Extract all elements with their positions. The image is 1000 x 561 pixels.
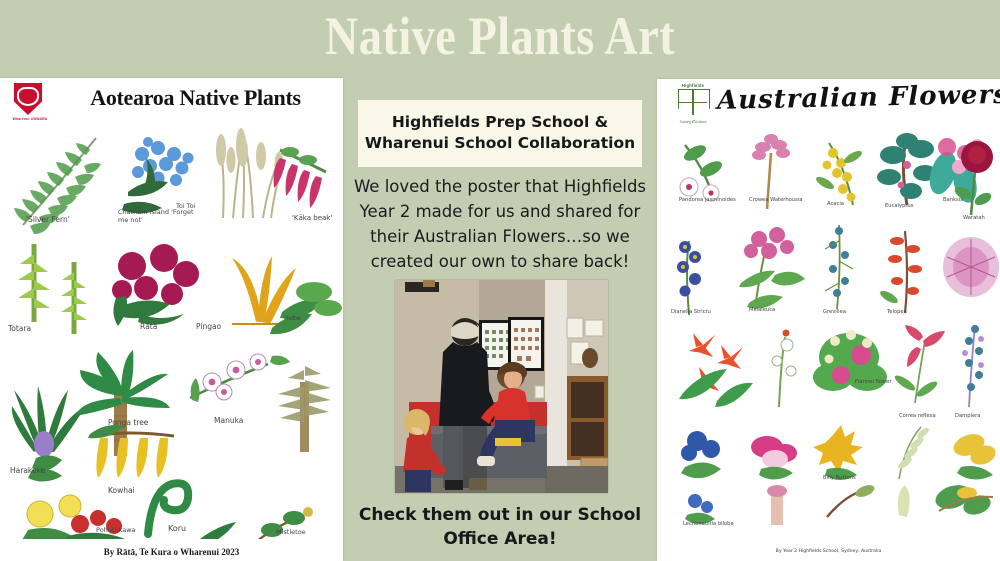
center-column: Highfields Prep School & Wharenui School… (343, 78, 657, 561)
wharenui-crest-caption: Wharenui ONWARD (12, 117, 48, 121)
office-area-cta: Check them out in our School Office Area… (351, 503, 649, 551)
native-plants-illustrations (0, 122, 343, 539)
photo-scene (395, 280, 608, 493)
highfields-crest-icon: Highfields Training to Achieve (673, 83, 713, 127)
poster-left-credit: By Rātā, Te Kura o Wharenui 2023 (0, 547, 343, 557)
wharenui-crest-icon: Wharenui ONWARD (12, 83, 48, 121)
poster-aotearoa-native-plants[interactable]: Wharenui ONWARD Aotearoa Native Plants (0, 78, 343, 561)
poster-left-title: Aotearoa Native Plants (56, 85, 335, 111)
poster-left-header: Wharenui ONWARD Aotearoa Native Plants (0, 78, 343, 122)
poster-right-title: Australian Flowers (717, 80, 995, 116)
poster-left-artwork: 'Silver Fern' Chatham Island 'Forget me … (0, 122, 343, 539)
collaboration-blurb: We loved the poster that Highfields Year… (351, 174, 649, 274)
poster-right-header: Highfields Training to Achieve Australia… (657, 79, 1000, 123)
poster-canvas: Native Plants Art Wharenui ONWARD Aotear… (0, 0, 1000, 561)
poster-australian-flowers[interactable]: Highfields Training to Achieve Australia… (657, 79, 1000, 561)
page-title: Native Plants Art (70, 4, 930, 68)
australian-flowers-illustrations (657, 123, 1000, 539)
poster-right-credit: By Year 2 Highfields School, Sydney, Aus… (657, 549, 1000, 554)
office-photo[interactable] (395, 280, 608, 493)
poster-right-artwork: Pandorea jasminoides Crowea Waterhousia … (657, 123, 1000, 539)
highfields-crest-name: Highfields (673, 83, 713, 88)
collaboration-banner: Highfields Prep School & Wharenui School… (358, 100, 642, 167)
